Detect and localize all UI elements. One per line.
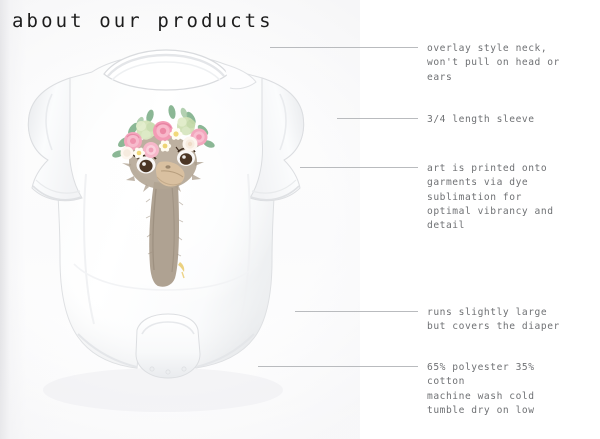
leader-line-sleeve	[337, 118, 418, 119]
leader-line-fit	[295, 311, 418, 312]
page-title: about our products	[12, 10, 274, 32]
product-info-graphic: about our products	[0, 0, 600, 439]
leader-line-fabric	[258, 366, 418, 367]
annotation-sleeve: 3/4 length sleeve	[427, 113, 595, 127]
rose-pink-2	[153, 121, 173, 141]
annotation-neck: overlay style neck, won't pull on head o…	[427, 42, 595, 85]
rose-white-2	[121, 147, 134, 160]
annotation-fabric: 65% polyester 35% cotton machine wash co…	[427, 361, 595, 418]
annotation-print: art is printed onto garments via dye sub…	[427, 162, 595, 233]
product-image-onesie	[0, 34, 360, 434]
annotation-fit: runs slightly large but covers the diape…	[427, 306, 595, 335]
overlay-neckline	[104, 50, 256, 90]
rose-white-1	[183, 137, 198, 152]
snap-crotch-panel	[136, 314, 200, 378]
rose-pink-4	[143, 142, 159, 158]
leader-line-neck	[270, 47, 418, 48]
leader-line-print	[300, 167, 418, 168]
